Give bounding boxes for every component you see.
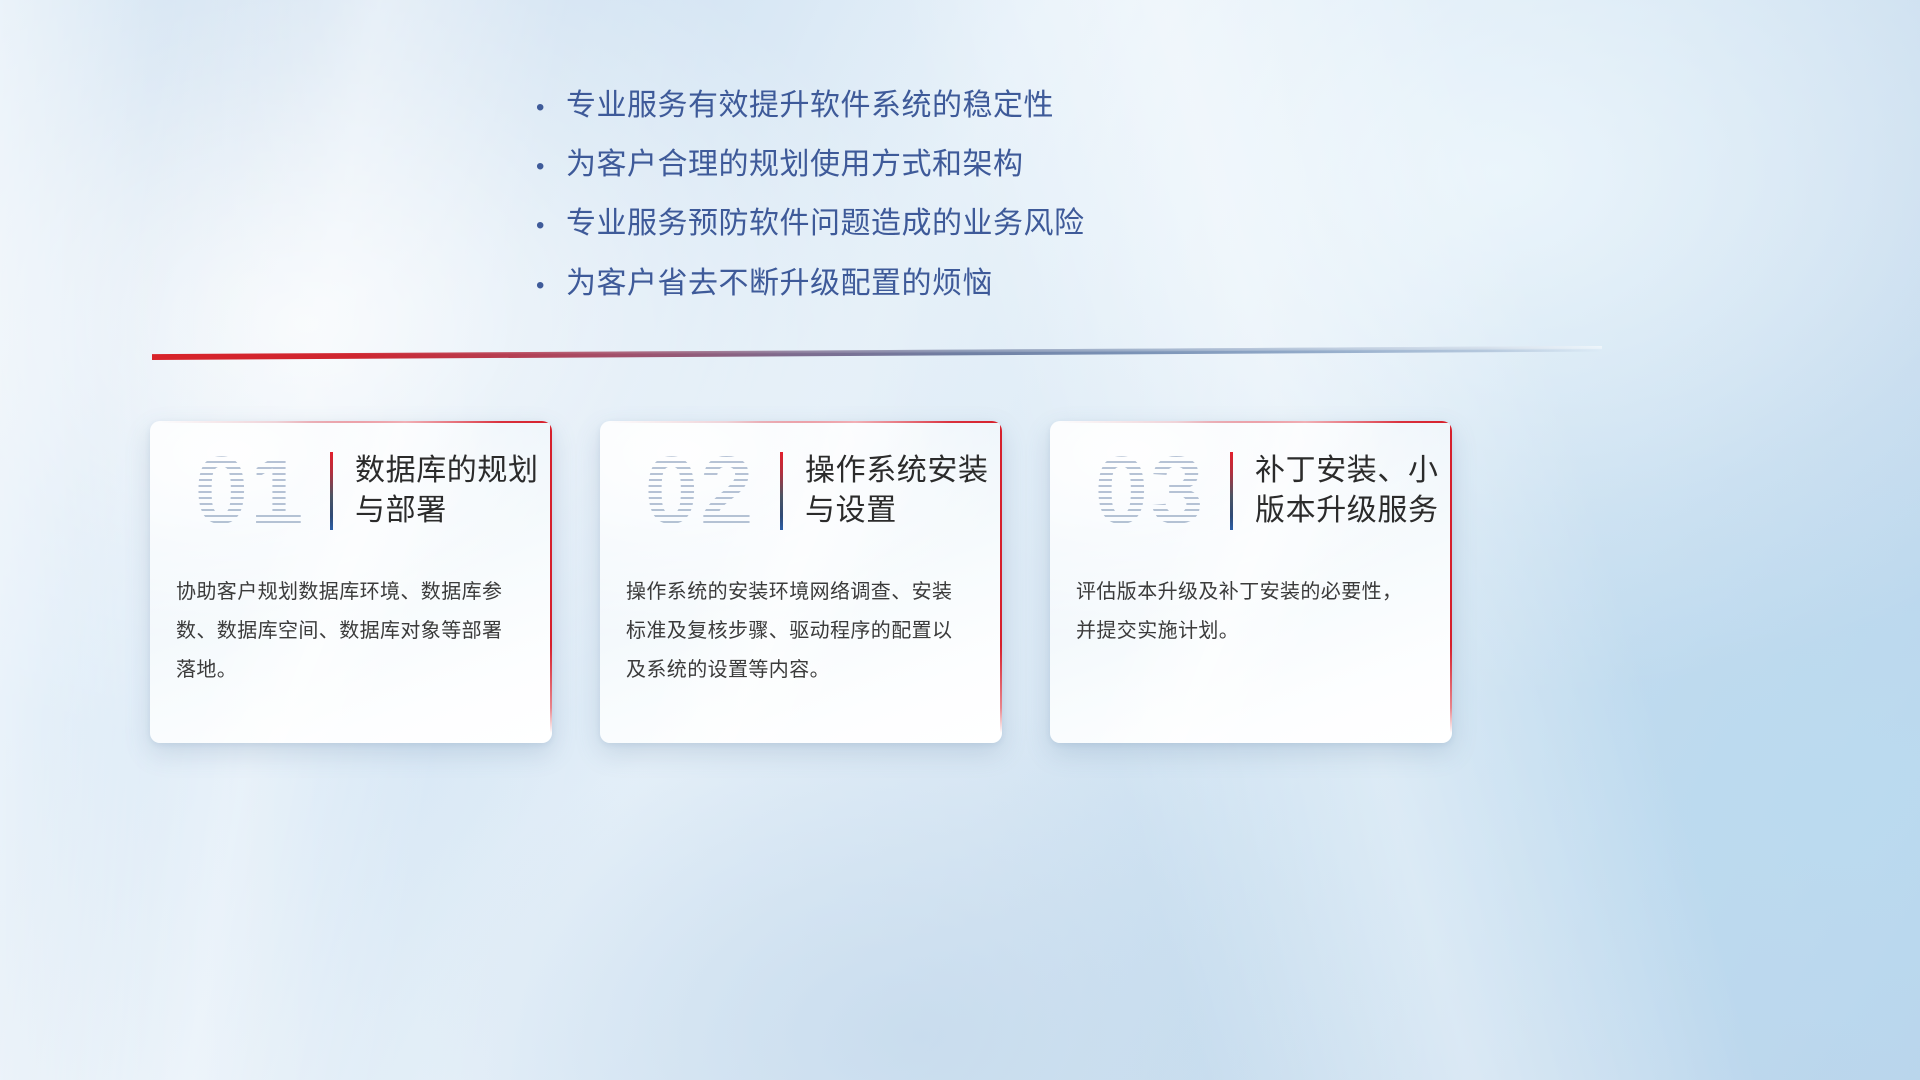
bullet-text: 为客户合理的规划使用方式和架构 (566, 145, 1024, 185)
bullet-text: 为客户省去不断升级配置的烦恼 (566, 264, 993, 304)
card-header: 02 操作系统安装与设置 (600, 421, 1002, 561)
list-item: • 专业服务预防软件问题造成的业务风险 (536, 204, 1296, 244)
card-number-watermark: 02 (624, 443, 776, 539)
bullet-text: 专业服务有效提升软件系统的稳定性 (566, 86, 1054, 126)
bullet-marker-icon: • (536, 274, 566, 298)
card-header: 03 补丁安装、小版本升级服务 (1050, 421, 1452, 561)
card-divider-rule (330, 452, 333, 530)
bullet-list: • 专业服务有效提升软件系统的稳定性 • 为客户合理的规划使用方式和架构 • 专… (536, 86, 1296, 323)
card-divider-rule (780, 452, 783, 530)
card-03[interactable]: 03 补丁安装、小版本升级服务 评估版本升级及补丁安装的必要性，并提交实施计划。 (1050, 421, 1452, 743)
card-number-watermark: 03 (1074, 443, 1226, 539)
card-body-text: 操作系统的安装环境网络调查、安装标准及复核步骤、驱动程序的配置以及系统的设置等内… (600, 561, 1002, 690)
section-divider (152, 346, 1602, 360)
bullet-text: 专业服务预防软件问题造成的业务风险 (566, 204, 1085, 244)
bullet-marker-icon: • (536, 214, 566, 238)
list-item: • 为客户合理的规划使用方式和架构 (536, 145, 1296, 185)
list-item: • 专业服务有效提升软件系统的稳定性 (536, 86, 1296, 126)
card-01[interactable]: 01 数据库的规划与部署 协助客户规划数据库环境、数据库参数、数据库空间、数据库… (150, 421, 552, 743)
slide-canvas: • 专业服务有效提升软件系统的稳定性 • 为客户合理的规划使用方式和架构 • 专… (0, 0, 1920, 1080)
card-divider-rule (1230, 452, 1233, 530)
bullet-marker-icon: • (536, 155, 566, 179)
card-02[interactable]: 02 操作系统安装与设置 操作系统的安装环境网络调查、安装标准及复核步骤、驱动程… (600, 421, 1002, 743)
card-body-text: 协助客户规划数据库环境、数据库参数、数据库空间、数据库对象等部署落地。 (150, 561, 552, 690)
card-number-watermark: 01 (174, 443, 326, 539)
bullet-marker-icon: • (536, 96, 566, 120)
card-group: 01 数据库的规划与部署 协助客户规划数据库环境、数据库参数、数据库空间、数据库… (150, 421, 1620, 743)
card-header: 01 数据库的规划与部署 (150, 421, 552, 561)
card-title: 补丁安装、小版本升级服务 (1255, 451, 1452, 530)
list-item: • 为客户省去不断升级配置的烦恼 (536, 264, 1296, 304)
card-body-text: 评估版本升级及补丁安装的必要性，并提交实施计划。 (1050, 561, 1452, 651)
card-title: 数据库的规划与部署 (355, 451, 552, 530)
card-title: 操作系统安装与设置 (805, 451, 1002, 530)
